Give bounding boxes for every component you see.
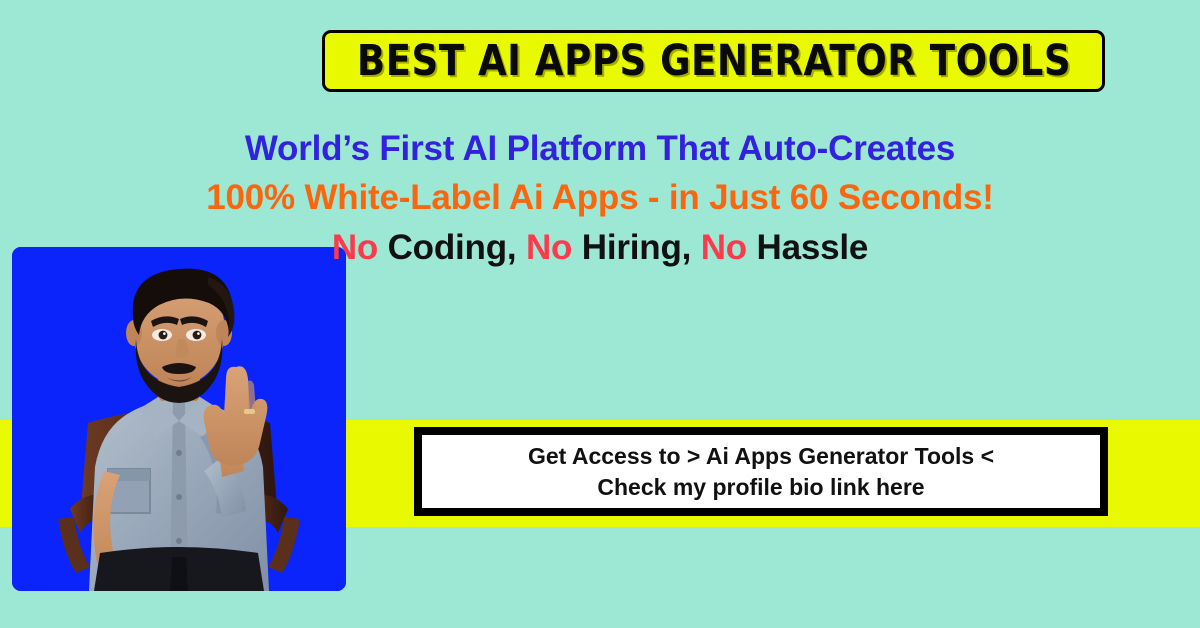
promo-banner: BEST AI APPS GENERATOR TOOLS World’s Fir… [0, 0, 1200, 628]
headline-stack: World’s First AI Platform That Auto-Crea… [0, 128, 1200, 268]
headline-line-tertiary: No Coding, No Hiring, No Hassle [0, 227, 1200, 268]
presenter-photo [12, 247, 346, 591]
headline-text-coding: Coding, [378, 228, 526, 267]
headline-accent-no-2: No [526, 228, 572, 267]
cta-line-secondary: Check my profile bio link here [597, 472, 924, 502]
cta-line-primary: Get Access to > Ai Apps Generator Tools … [528, 441, 994, 471]
title-banner: BEST AI APPS GENERATOR TOOLS [322, 30, 1105, 92]
cta-box[interactable]: Get Access to > Ai Apps Generator Tools … [414, 427, 1108, 516]
headline-accent-no-1: No [332, 228, 378, 267]
headline-line-primary: World’s First AI Platform That Auto-Crea… [0, 128, 1200, 169]
title-banner-text: BEST AI APPS GENERATOR TOOLS [356, 40, 1070, 83]
headline-line-secondary: 100% White-Label Ai Apps - in Just 60 Se… [0, 177, 1200, 218]
headline-accent-no-3: No [701, 228, 747, 267]
headline-text-hassle: Hassle [747, 228, 868, 267]
presenter-photo-card [12, 247, 346, 591]
headline-text-hiring: Hiring, [572, 228, 700, 267]
